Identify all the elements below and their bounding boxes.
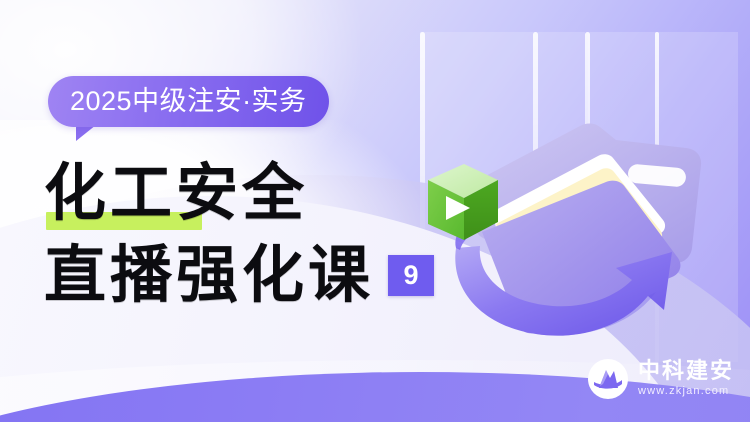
course-category-badge: 2025中级注安·实务	[48, 76, 329, 127]
mountain-peak-logo-icon	[587, 358, 629, 400]
headline-block: 化工安全 直播强化课 9	[44, 154, 474, 314]
brand-name: 中科建安	[638, 360, 734, 384]
course-promo-poster: 2025中级注安·实务 化工安全 直播强化课 9 中科建安 www.zkjan.…	[0, 0, 750, 422]
headline-line1: 化工安全	[44, 154, 474, 232]
brand-text: 中科建安 www.zkjan.com	[638, 360, 734, 398]
brand-url: www.zkjan.com	[638, 384, 734, 398]
headline-line1-wrap: 化工安全	[44, 154, 474, 232]
episode-number-badge: 9	[388, 255, 434, 296]
headline-line2: 直播强化课	[44, 236, 374, 314]
brand-logo: 中科建安 www.zkjan.com	[587, 358, 734, 400]
headline-line2-wrap: 直播强化课 9	[44, 236, 474, 314]
course-category-badge-label: 2025中级注安·实务	[70, 88, 307, 115]
badge-tail	[76, 125, 96, 141]
